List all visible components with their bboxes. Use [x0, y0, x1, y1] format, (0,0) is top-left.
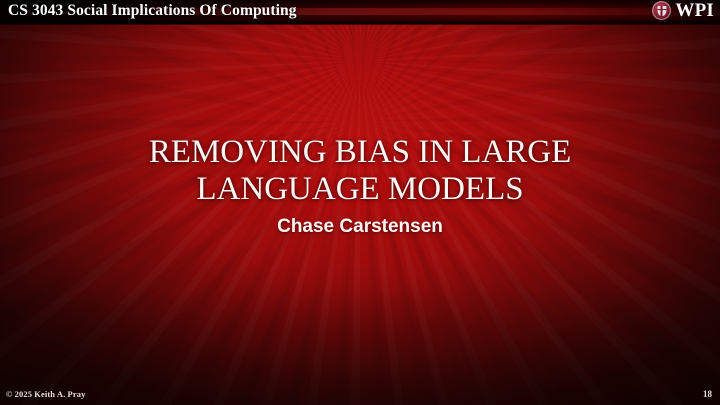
page-title: REMOVING BIAS IN LARGE LANGUAGE MODELS [60, 134, 660, 208]
slide-number: 18 [703, 389, 712, 399]
wpi-seal-icon [652, 1, 671, 20]
slide-content: REMOVING BIAS IN LARGE LANGUAGE MODELS C… [0, 24, 720, 405]
presenter-name: Chase Carstensen [60, 216, 660, 238]
copyright-notice: © 2025 Keith A. Pray [6, 389, 85, 399]
shield-icon [657, 6, 666, 16]
wpi-logo: WPI [652, 1, 714, 20]
course-title: CS 3043 Social Implications Of Computing [8, 2, 297, 20]
presentation-slide: CS 3043 Social Implications Of Computing… [0, 0, 720, 405]
slide-header-bar: CS 3043 Social Implications Of Computing… [0, 0, 720, 24]
wpi-wordmark: WPI [675, 1, 714, 20]
